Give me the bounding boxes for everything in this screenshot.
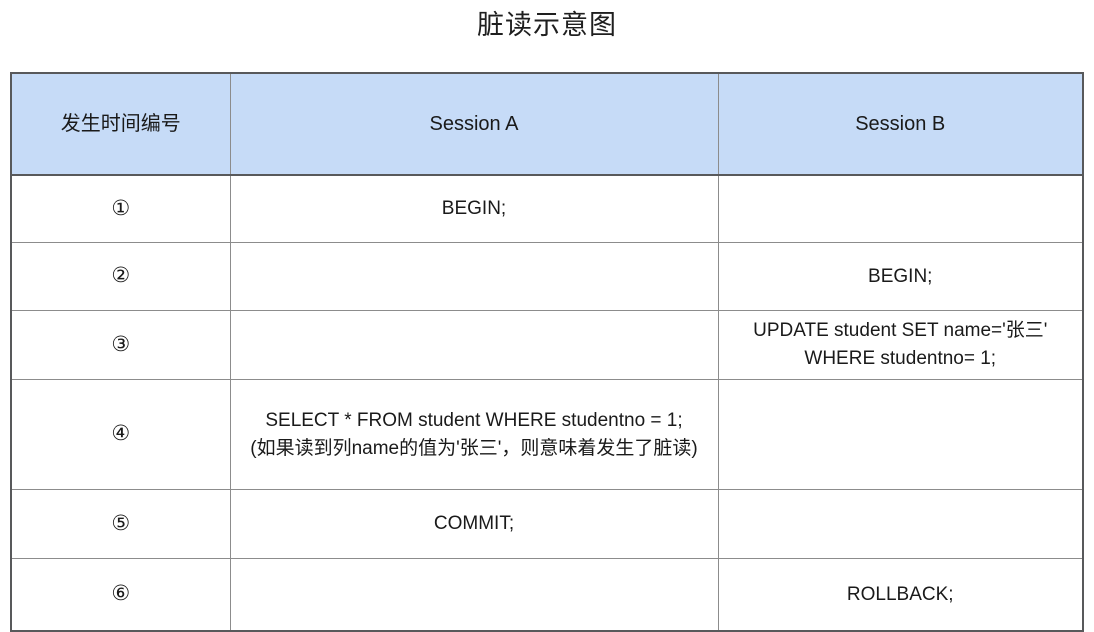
session-a-cell: SELECT * FROM student WHERE studentno = … xyxy=(230,380,718,490)
page-title: 脏读示意图 xyxy=(0,0,1094,39)
table-row: ① BEGIN; xyxy=(11,175,1083,243)
session-b-cell xyxy=(718,380,1083,490)
table-row: ⑤ COMMIT; xyxy=(11,490,1083,559)
sequence-label: ② xyxy=(111,264,130,287)
table-row: ② BEGIN; xyxy=(11,243,1083,311)
table-row: ⑥ ROLLBACK; xyxy=(11,559,1083,632)
session-a-annotation: (如果读到列name的值为'张三'，则意味着发生了脏读) xyxy=(237,435,712,463)
diagram-table-container: 发生时间编号 Session A Session B ① BEGIN; ② BE… xyxy=(10,72,1082,632)
header-session-a: Session A xyxy=(230,73,718,175)
sequence-label: ⑤ xyxy=(111,512,130,535)
session-b-cell: UPDATE student SET name='张三' WHERE stude… xyxy=(718,311,1083,380)
session-b-cell xyxy=(718,490,1083,559)
session-b-statement: UPDATE student SET name='张三' WHERE stude… xyxy=(725,317,1077,372)
table-body: ① BEGIN; ② BEGIN; ③ UPDATE student SET n… xyxy=(11,175,1083,631)
session-b-statement: BEGIN; xyxy=(725,263,1077,291)
session-a-cell xyxy=(230,559,718,632)
table-header-row: 发生时间编号 Session A Session B xyxy=(11,73,1083,175)
sequence-marker: ⑤ xyxy=(11,490,230,559)
sequence-marker: ④ xyxy=(11,380,230,490)
table-row: ③ UPDATE student SET name='张三' WHERE stu… xyxy=(11,311,1083,380)
session-b-cell: ROLLBACK; xyxy=(718,559,1083,632)
session-a-cell xyxy=(230,311,718,380)
sequence-marker: ⑥ xyxy=(11,559,230,632)
sequence-label: ④ xyxy=(111,422,130,445)
sequence-marker: ② xyxy=(11,243,230,311)
session-a-cell: BEGIN; xyxy=(230,175,718,243)
sequence-label: ① xyxy=(111,197,130,220)
session-a-statement: COMMIT; xyxy=(237,510,712,538)
table-header: 发生时间编号 Session A Session B xyxy=(11,73,1083,175)
header-session-b: Session B xyxy=(718,73,1083,175)
header-sequence: 发生时间编号 xyxy=(11,73,230,175)
session-b-statement: ROLLBACK; xyxy=(725,581,1077,609)
session-a-statement: BEGIN; xyxy=(237,195,712,223)
session-a-cell xyxy=(230,243,718,311)
sequence-label: ③ xyxy=(111,333,130,356)
table-row: ④ SELECT * FROM student WHERE studentno … xyxy=(11,380,1083,490)
dirty-read-table: 发生时间编号 Session A Session B ① BEGIN; ② BE… xyxy=(10,72,1084,632)
session-a-cell: COMMIT; xyxy=(230,490,718,559)
session-b-cell: BEGIN; xyxy=(718,243,1083,311)
sequence-label: ⑥ xyxy=(111,582,130,605)
sequence-marker: ③ xyxy=(11,311,230,380)
session-a-statement: SELECT * FROM student WHERE studentno = … xyxy=(237,407,712,435)
sequence-marker: ① xyxy=(11,175,230,243)
session-b-cell xyxy=(718,175,1083,243)
